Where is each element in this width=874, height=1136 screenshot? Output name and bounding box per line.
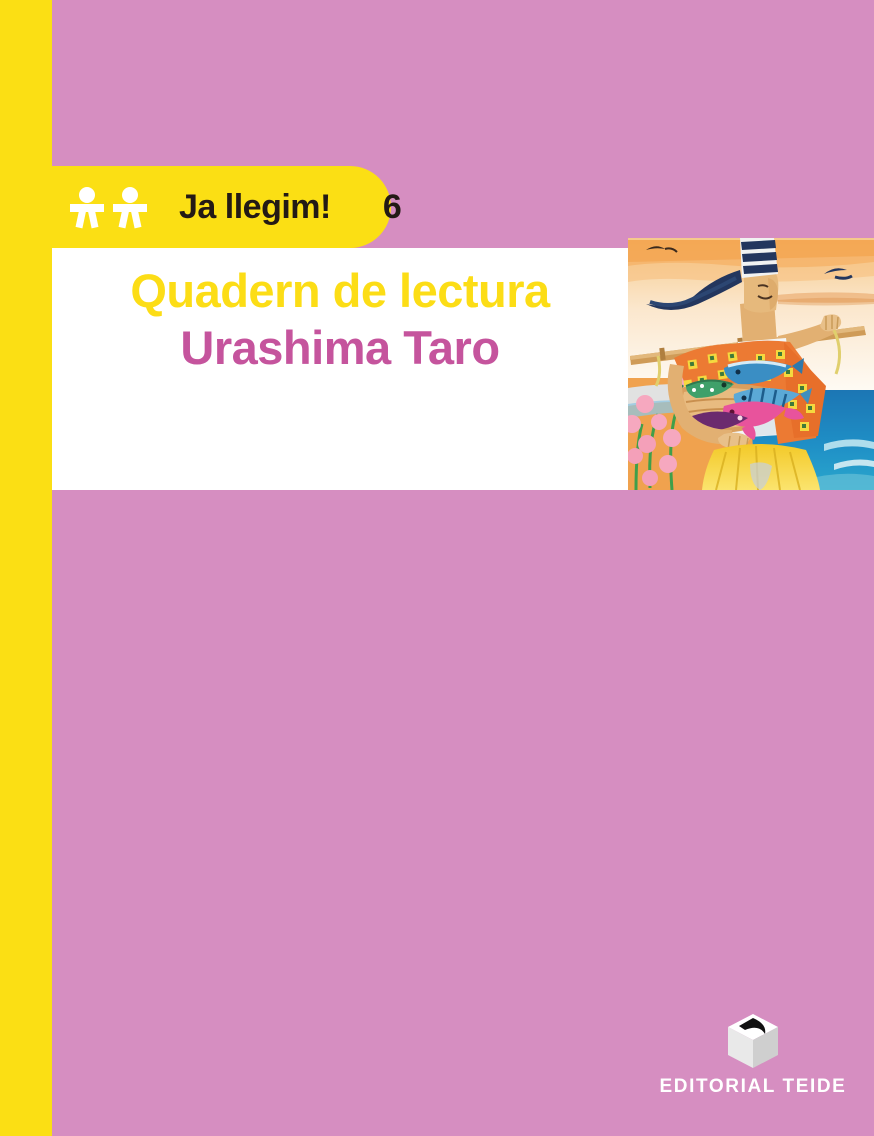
child-head — [122, 187, 138, 203]
book-cover: Ja llegim! 6 Quadern de lectura Urashima… — [0, 0, 874, 1136]
child-head — [79, 187, 95, 203]
series-banner: Ja llegim! 6 — [0, 166, 440, 248]
child-leg-right — [88, 210, 98, 228]
title-block: Quadern de lectura Urashima Taro — [52, 248, 628, 377]
publisher-name: EDITORIAL TEIDE — [620, 1076, 874, 1098]
book-title: Quadern de lectura — [52, 262, 628, 319]
series-title: Ja llegim! — [179, 188, 331, 227]
child-leg-right — [131, 210, 141, 228]
issue-number: 6 — [383, 188, 402, 227]
child-leg-left — [119, 210, 129, 228]
publisher-block: EDITORIAL TEIDE — [620, 1012, 874, 1098]
two-children-icon — [70, 187, 147, 227]
cover-illustration — [628, 238, 874, 490]
child-figure-icon — [70, 187, 104, 227]
teide-cube-logo-icon — [725, 1012, 781, 1070]
child-leg-left — [76, 210, 86, 228]
child-figure-icon — [113, 187, 147, 227]
book-subtitle: Urashima Taro — [52, 319, 628, 376]
